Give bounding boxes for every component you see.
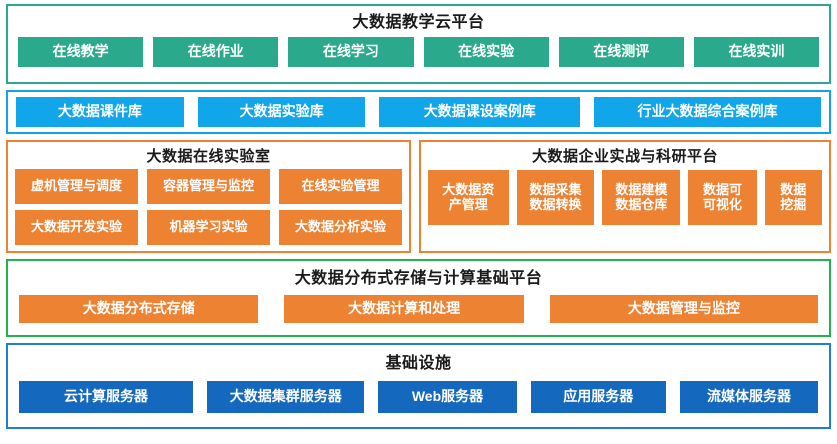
panel-title-teaching-platform: 大数据教学云平台	[352, 15, 484, 31]
enterprise-item-data-mining[interactable]: 数据 挖掘	[765, 170, 822, 225]
panel-title-storage-compute: 大数据分布式存储与计算基础平台	[295, 271, 543, 287]
lab-item-bigdata-dev-experiment[interactable]: 大数据开发实验	[15, 210, 138, 245]
lab-item-online-experiment-management[interactable]: 在线实验管理	[279, 169, 402, 204]
panel-title-online-lab: 大数据在线实验室	[146, 149, 270, 164]
enterprise-item-data-collection-transform[interactable]: 数据采集 数据转换	[517, 170, 595, 225]
infrastructure-item-row: 云计算服务器 大数据集群服务器 Web服务器 应用服务器 流媒体服务器	[15, 381, 822, 413]
enterprise-platform-item-row: 大数据资 产管理 数据采集 数据转换 数据建模 数据仓库 数据可 可视化 数据 …	[428, 170, 822, 225]
lab-item-container-management[interactable]: 容器管理与监控	[147, 169, 270, 204]
infra-item-web-server[interactable]: Web服务器	[378, 381, 516, 413]
panel-enterprise-platform: 大数据企业实战与科研平台 大数据资 产管理 数据采集 数据转换 数据建模 数据仓…	[419, 140, 831, 253]
panel-resource-libraries: 大数据课件库 大数据实验库 大数据课设案例库 行业大数据综合案例库	[6, 90, 831, 134]
teaching-platform-item-row: 在线教学 在线作业 在线学习 在线实验 在线测评 在线实训	[14, 37, 823, 67]
storage-item-distributed-storage[interactable]: 大数据分布式存储	[19, 295, 258, 323]
storage-compute-item-row: 大数据分布式存储 大数据计算和处理 大数据管理与监控	[15, 295, 822, 323]
online-lab-item-row-1: 虚机管理与调度 容器管理与监控 在线实验管理	[15, 169, 402, 204]
panel-title-infrastructure: 基础设施	[385, 356, 451, 372]
infra-item-cloud-compute-server[interactable]: 云计算服务器	[19, 381, 193, 413]
library-item-course-design-cases[interactable]: 大数据课设案例库	[379, 97, 580, 127]
library-item-industry-cases[interactable]: 行业大数据综合案例库	[594, 97, 821, 127]
panel-teaching-platform: 大数据教学云平台 在线教学 在线作业 在线学习 在线实验 在线测评 在线实训	[6, 4, 831, 84]
infra-item-application-server[interactable]: 应用服务器	[531, 381, 666, 413]
library-item-experiment[interactable]: 大数据实验库	[198, 97, 366, 127]
lab-item-machine-learning-experiment[interactable]: 机器学习实验	[147, 210, 270, 245]
teaching-item-online-training[interactable]: 在线实训	[694, 37, 819, 67]
infra-item-streaming-media-server[interactable]: 流媒体服务器	[680, 381, 818, 413]
enterprise-item-data-modeling-warehouse[interactable]: 数据建模 数据仓库	[602, 170, 680, 225]
storage-item-management-monitoring[interactable]: 大数据管理与监控	[550, 295, 818, 323]
teaching-item-online-assessment[interactable]: 在线测评	[559, 37, 684, 67]
panel-online-lab: 大数据在线实验室 虚机管理与调度 容器管理与监控 在线实验管理 大数据开发实验 …	[6, 140, 411, 253]
resource-library-item-row: 大数据课件库 大数据实验库 大数据课设案例库 行业大数据综合案例库	[16, 97, 821, 127]
panel-title-enterprise-platform: 大数据企业实战与科研平台	[532, 149, 718, 164]
teaching-item-online-experiment[interactable]: 在线实验	[424, 37, 549, 67]
lab-item-vm-management[interactable]: 虚机管理与调度	[15, 169, 138, 204]
storage-item-compute-processing[interactable]: 大数据计算和处理	[284, 295, 523, 323]
architecture-diagram: 大数据教学云平台 在线教学 在线作业 在线学习 在线实验 在线测评 在线实训 大…	[0, 0, 837, 444]
lab-item-bigdata-analysis-experiment[interactable]: 大数据分析实验	[279, 210, 402, 245]
panel-infrastructure: 基础设施 云计算服务器 大数据集群服务器 Web服务器 应用服务器 流媒体服务器	[6, 343, 831, 429]
enterprise-item-data-visualization[interactable]: 数据可 可视化	[688, 170, 756, 225]
teaching-item-online-homework[interactable]: 在线作业	[153, 37, 278, 67]
library-item-courseware[interactable]: 大数据课件库	[16, 97, 184, 127]
enterprise-item-data-asset-management[interactable]: 大数据资 产管理	[428, 170, 509, 225]
teaching-item-online-learning[interactable]: 在线学习	[288, 37, 413, 67]
teaching-item-online-teaching[interactable]: 在线教学	[18, 37, 143, 67]
panel-storage-compute: 大数据分布式存储与计算基础平台 大数据分布式存储 大数据计算和处理 大数据管理与…	[6, 259, 831, 337]
middle-panels-row: 大数据在线实验室 虚机管理与调度 容器管理与监控 在线实验管理 大数据开发实验 …	[6, 140, 831, 253]
infra-item-bigdata-cluster-server[interactable]: 大数据集群服务器	[207, 381, 364, 413]
online-lab-item-row-2: 大数据开发实验 机器学习实验 大数据分析实验	[15, 210, 402, 245]
